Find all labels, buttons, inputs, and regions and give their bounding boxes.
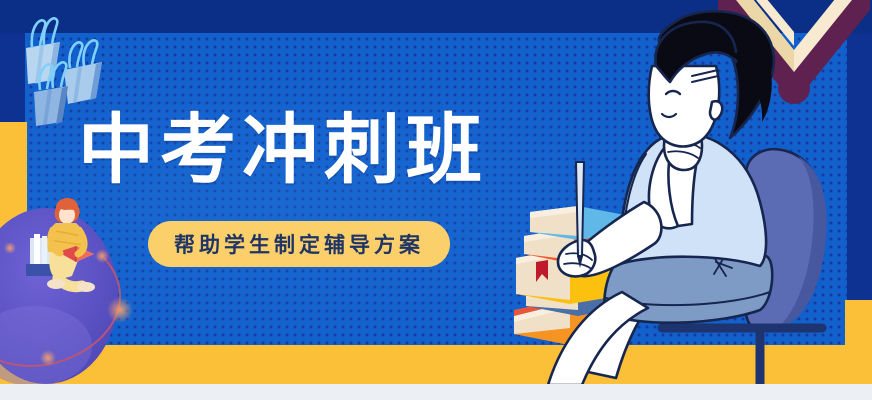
subtitle-text: 帮助学生制定辅导方案 <box>174 229 424 259</box>
reading-girl-illustration <box>20 190 130 295</box>
orbit-dot <box>4 242 16 254</box>
course-promo-banner: 中考冲刺班 帮助学生制定辅导方案 <box>0 0 872 400</box>
orbit-dot <box>40 350 56 366</box>
binder-clip-icon <box>26 18 60 84</box>
subtitle-pill: 帮助学生制定辅导方案 <box>148 221 450 267</box>
pen-icon <box>576 162 584 268</box>
orbit-dot <box>107 297 133 323</box>
studying-girl-illustration <box>430 10 872 385</box>
bottom-grey-strip <box>0 384 872 400</box>
binder-clip-icon <box>64 40 102 104</box>
page-title: 中考冲刺班 <box>78 107 488 193</box>
